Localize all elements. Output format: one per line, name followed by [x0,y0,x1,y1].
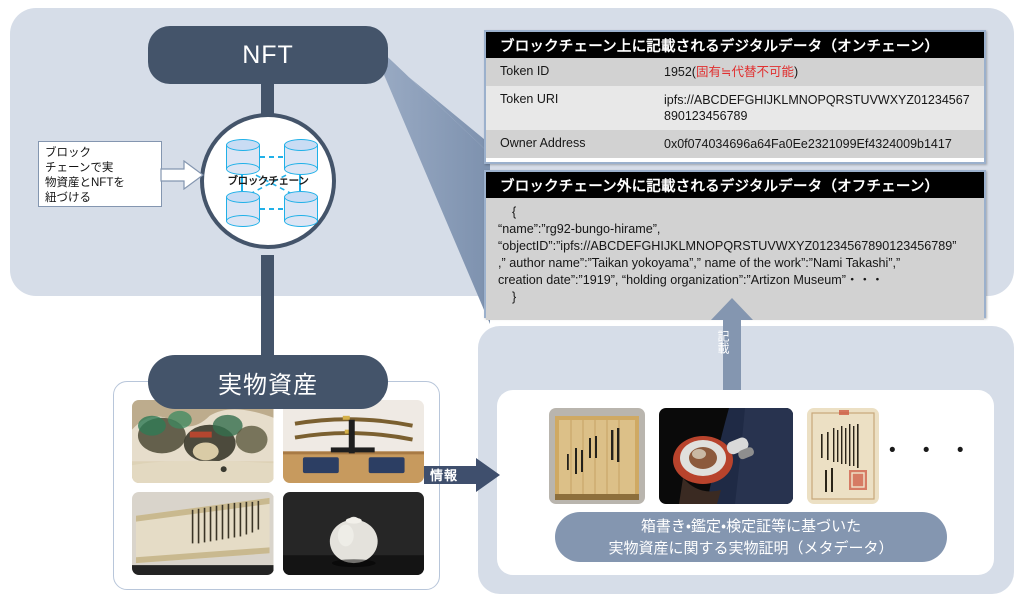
table-row: Token URI ipfs://ABCDEFGHIJKLMNOPQRSTUVW… [486,86,984,130]
token-uri-key: Token URI [486,86,652,130]
callout-line-4: 紐づける [45,191,155,206]
callout-arrow-icon [160,160,204,190]
database-cylinder-icon [226,191,260,227]
token-id-paren: ) [794,65,798,79]
metadata-photo-row [549,408,879,506]
metadata-ellipsis: • • • [889,446,975,456]
physical-asset-label-text: 実物資産 [218,365,318,400]
json-line: { [498,204,974,221]
nft-label-pill: NFT [148,26,388,84]
joho-arrow-label: 情報 [430,465,458,484]
photo-certificate [807,408,879,504]
metadata-caption-line-2: 実物資産に関する実物証明（メタデータ） [555,538,947,560]
blockchain-circle-label: ブロックチェーン [204,173,332,188]
token-id-value: 1952(固有≒代替不可能) [652,58,984,86]
physical-asset-label-pill: 実物資産 [148,355,388,409]
table-row: Owner Address 0x0f074034696a64Fa0Ee23210… [486,130,984,158]
token-id-note: 固有≒代替不可能 [696,65,794,79]
token-id-number: 1952( [664,65,696,79]
kisai-arrow-text: 記載 [716,330,730,354]
nft-label-text: NFT [242,41,294,70]
database-cylinder-icon [284,191,318,227]
physical-asset-photo-grid [132,400,424,575]
json-line: “objectID”:”ipfs://ABCDEFGHIJKLMNOPQRSTU… [498,238,974,255]
diagram-canvas: NFT ブロックチェーン ブロック チェーンで実 物資産とNFTを 紐づける [0,0,1024,599]
owner-address-key: Owner Address [486,130,652,158]
offchain-table-header: ブロックチェーン外に記載されるデジタルデータ（オフチェーン） [486,172,984,198]
blockchain-circle: ブロックチェーン [200,113,336,249]
photo-ink-painting [132,400,274,483]
blockchain-callout-box: ブロック チェーンで実 物資産とNFTを 紐づける [38,141,162,207]
metadata-evidence-card: • • • 箱書き・鑑定・検定証等に基づいた 実物資産に関する実物証明（メタデー… [497,390,994,575]
photo-scroll-document [132,492,274,575]
database-cylinder-icon [226,139,260,175]
json-line: creation date”:”1919”, “holding organiza… [498,272,974,289]
metadata-caption-line-1: 箱書き・鑑定・検定証等に基づいた [555,516,947,538]
callout-line-2: チェーンで実 [45,161,155,176]
database-cylinder-icon [284,139,318,175]
photo-appraisal-lacquerware [659,408,793,504]
onchain-data-table: ブロックチェーン上に記載されるデジタルデータ（オンチェーン） Token ID … [484,30,986,164]
asset-stem-connector [261,255,274,365]
json-line: ,” author name”:”Taikan yokoyama”,” name… [498,255,974,272]
table-row: Token ID 1952(固有≒代替不可能) [486,58,984,86]
callout-line-3: 物資産とNFTを [45,176,155,191]
token-uri-value: ipfs://ABCDEFGHIJKLMNOPQRSTUVWXYZ0123456… [652,86,984,130]
json-line: “name”:”rg92-bungo-hirame”, [498,221,974,238]
offchain-data-table: ブロックチェーン外に記載されるデジタルデータ（オフチェーン） { “name”:… [484,170,986,318]
callout-line-1: ブロック [45,146,155,161]
metadata-caption-pill: 箱書き・鑑定・検定証等に基づいた 実物資産に関する実物証明（メタデータ） [555,512,947,562]
owner-address-value: 0x0f074034696a64Fa0Ee2321099Ef4324009b14… [652,130,984,158]
photo-white-vase [283,492,425,575]
physical-asset-card [113,381,440,590]
nft-to-table-connector-icon [368,24,498,334]
photo-hakogaki-box [549,408,645,504]
token-id-key: Token ID [486,58,652,86]
photo-katana-swords [283,400,425,483]
onchain-table-header: ブロックチェーン上に記載されるデジタルデータ（オンチェーン） [486,32,984,58]
kisai-arrow-label: 記載 [716,330,732,354]
